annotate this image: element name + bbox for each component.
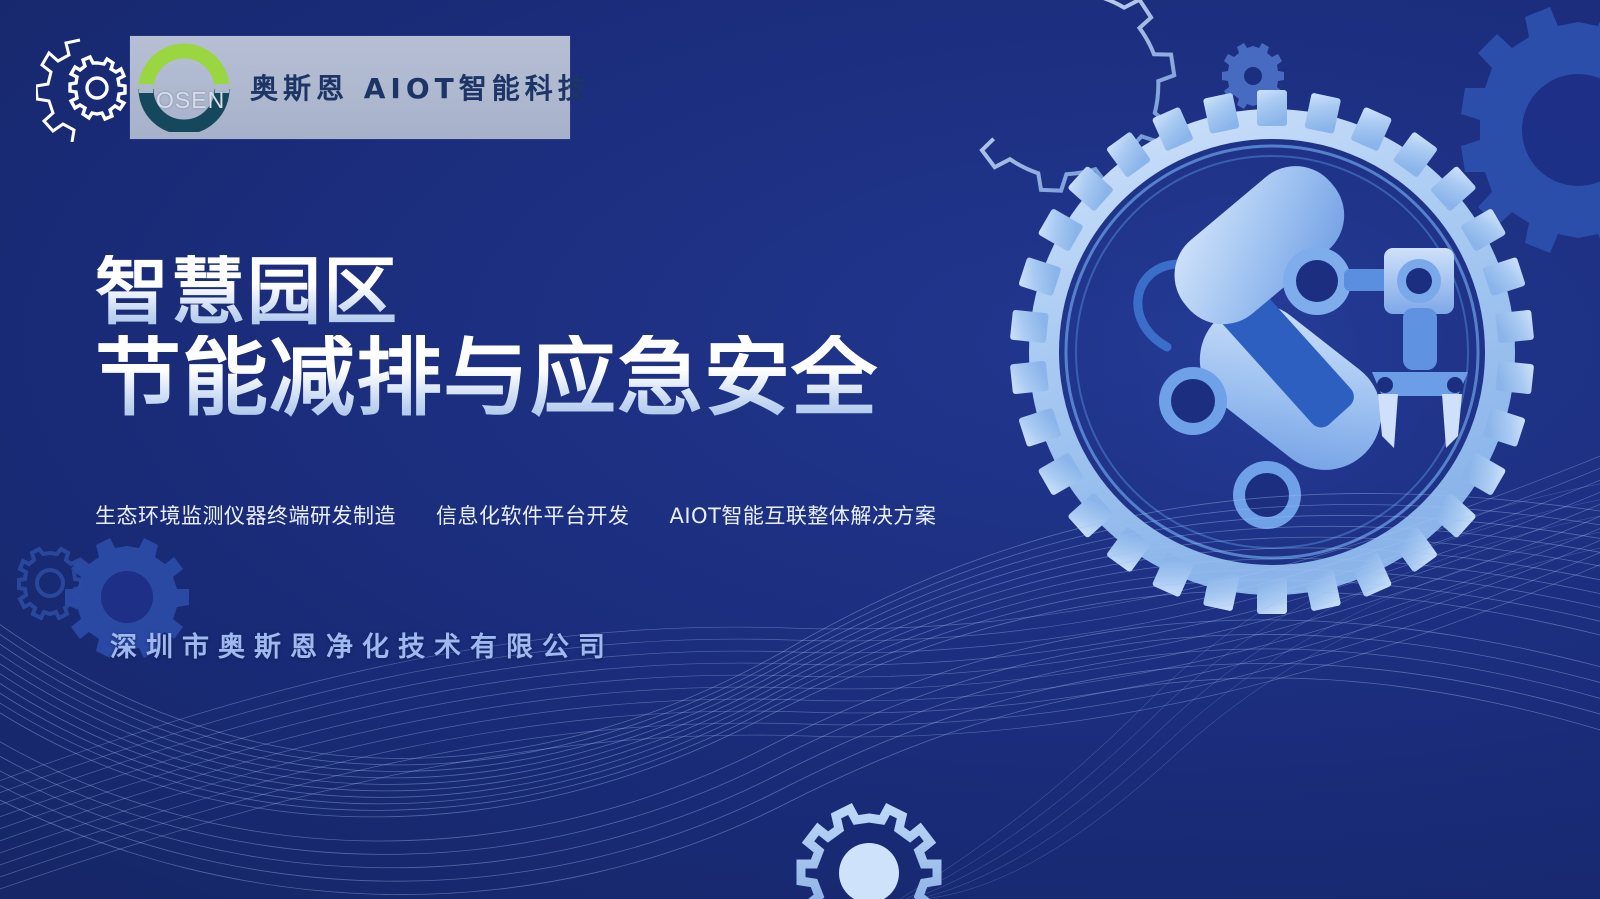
title-line-1: 智慧园区 <box>95 255 878 329</box>
gear-icon <box>1461 7 1600 253</box>
title-line-2: 节能减排与应急安全 <box>95 335 878 421</box>
gear-icon <box>801 809 937 899</box>
gear-arc-icon <box>978 0 1188 206</box>
logo-ring-text: OSEN <box>156 87 225 114</box>
subtitle-row: 生态环境监测仪器终端研发制造 信息化软件平台开发 AIOT智能互联整体解决方案 <box>95 500 936 530</box>
gear-outline-icon <box>19 549 81 618</box>
small-gear-icon <box>70 57 125 119</box>
company-name: 深圳市奥斯恩净化技术有限公司 <box>110 625 614 664</box>
large-gear-ring-icon <box>1010 90 1534 614</box>
small-gear-icon <box>1222 43 1284 109</box>
logo-zone: OSEN 奥斯恩 AIOT智能科技 <box>36 24 570 150</box>
subtitle-item-2: 信息化软件平台开发 <box>436 500 630 530</box>
presentation-slide: OSEN 奥斯恩 AIOT智能科技 智慧园区 节能减排与应急安全 生态环境监测仪… <box>0 0 1600 899</box>
subtitle-item-1: 生态环境监测仪器终端研发制造 <box>95 500 396 530</box>
page-title: 智慧园区 节能减排与应急安全 <box>95 255 878 421</box>
gear-outline-icon <box>36 32 136 142</box>
subtitle-item-3: AIOT智能互联整体解决方案 <box>670 500 937 530</box>
logo-brand-title: 奥斯恩 AIOT智能科技 <box>250 67 591 107</box>
robot-arm-icon <box>1138 147 1468 529</box>
osen-ring-logo: OSEN <box>132 42 236 132</box>
logo-panel: OSEN 奥斯恩 AIOT智能科技 <box>130 36 570 139</box>
